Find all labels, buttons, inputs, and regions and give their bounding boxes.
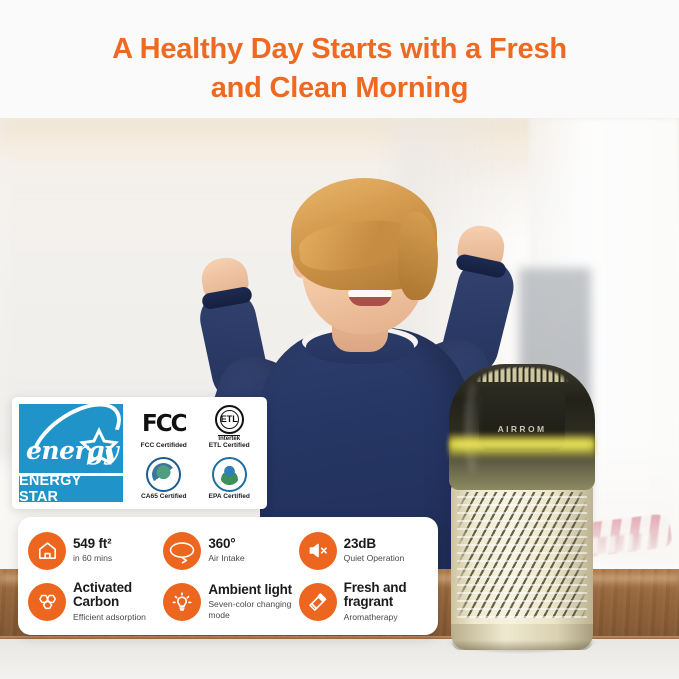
certification-grid: FCC FCC Certifided ETL Intertek ETL Cert…: [125, 402, 262, 504]
energy-star-wordmark: ENERGY STAR: [19, 473, 123, 502]
cert-item-etl: ETL Intertek ETL Certified: [197, 402, 263, 453]
headline-line-2: and Clean Morning: [0, 69, 679, 108]
energy-star-logo: energy ENERGY STAR: [17, 402, 125, 504]
feature-360-intake: 360 360° Air Intake: [163, 525, 296, 576]
product-body: [451, 480, 593, 644]
fcc-mark-text: FCC: [142, 411, 185, 437]
lightbulb-icon: [163, 583, 201, 621]
feature-360-text: 360° Air Intake: [208, 537, 244, 564]
certification-card: energy ENERGY STAR FCC FCC Certifided ET: [12, 397, 267, 509]
feature-aromatherapy: Fresh and fragrant Aromatherapy: [299, 576, 432, 627]
mouth: [348, 290, 392, 306]
feature-noise-title: 23dB: [344, 537, 405, 551]
headline-line-1: A Healthy Day Starts with a Fresh: [0, 30, 679, 69]
fcc-icon: FCC: [142, 407, 185, 441]
cert-item-epa: EPA Certified: [197, 453, 263, 504]
epa-label: EPA Certified: [209, 493, 250, 500]
ambient-light-core: [453, 440, 591, 449]
cert-item-fcc: FCC FCC Certifided: [131, 402, 197, 453]
teeth: [348, 290, 392, 297]
honeycomb-icon: [28, 583, 66, 621]
feature-coverage-text: 549 ft² in 60 mins: [73, 537, 112, 564]
feature-noise-sub: Quiet Operation: [344, 553, 405, 563]
etl-mark: ETL Intertek: [215, 405, 244, 443]
feature-ambient-light: Ambient light Seven-color changing mode: [163, 576, 296, 627]
vent-rows: [457, 492, 587, 618]
epa-seal: [212, 457, 247, 492]
feature-carbon-title: Activated Carbon: [73, 581, 161, 610]
house-icon: [28, 532, 66, 570]
dome-highlight: [465, 382, 481, 474]
epa-seal-icon: [212, 458, 247, 492]
product-dome: AIRROM: [449, 364, 595, 490]
feature-aroma-text: Fresh and fragrant Aromatherapy: [344, 581, 432, 622]
feature-coverage-sub: in 60 mins: [73, 553, 112, 563]
feature-360-sub: Air Intake: [208, 553, 244, 563]
feature-aroma-title: Fresh and fragrant: [344, 581, 432, 610]
cert-item-ca65: CA65 Certified: [131, 453, 197, 504]
etl-ring-text: ETL: [215, 405, 244, 434]
speaker-mute-icon: [299, 532, 337, 570]
star-icon: [78, 426, 120, 468]
dropper-icon: [299, 583, 337, 621]
product-base-shade: [451, 640, 593, 650]
feature-ambient-text: Ambient light Seven-color changing mode: [208, 583, 296, 620]
ca65-seal: [146, 457, 181, 492]
feature-activated-carbon: Activated Carbon Efficient adsorption: [28, 576, 161, 627]
page-title: A Healthy Day Starts with a Fresh and Cl…: [0, 30, 679, 107]
etl-icon: ETL Intertek: [215, 407, 244, 441]
feature-coverage-title: 549 ft²: [73, 537, 112, 551]
top-air-grille: [457, 360, 587, 382]
feature-noise-level: 23dB Quiet Operation: [299, 525, 432, 576]
feature-ambient-title: Ambient light: [208, 583, 296, 597]
feature-aroma-sub: Aromatherapy: [344, 612, 432, 622]
product-marketing-image: AIRROM A Healthy Day Starts with a Fresh…: [0, 0, 679, 679]
feature-ambient-sub: Seven-color changing mode: [208, 599, 296, 620]
360-rotation-icon: 360: [163, 532, 201, 570]
feature-coverage: 549 ft² in 60 mins: [28, 525, 161, 576]
ca65-seal-icon: [146, 458, 181, 492]
energy-star-wordmark-text: ENERGY STAR: [19, 473, 123, 505]
feature-360-title: 360°: [208, 537, 244, 551]
feature-carbon-sub: Efficient adsorption: [73, 612, 161, 622]
fcc-label: FCC Certifided: [141, 442, 187, 449]
energy-star-emblem: energy: [19, 404, 123, 473]
feature-highlights-card: 549 ft² in 60 mins 360 360° Air Intake: [18, 517, 438, 635]
feature-carbon-text: Activated Carbon Efficient adsorption: [73, 581, 161, 622]
air-purifier-product: AIRROM: [443, 358, 601, 650]
svg-text:360: 360: [176, 546, 190, 555]
feature-noise-text: 23dB Quiet Operation: [344, 537, 405, 564]
hair-side: [398, 212, 438, 300]
ca65-label: CA65 Certified: [141, 493, 186, 500]
etl-label: ETL Certified: [209, 442, 250, 449]
